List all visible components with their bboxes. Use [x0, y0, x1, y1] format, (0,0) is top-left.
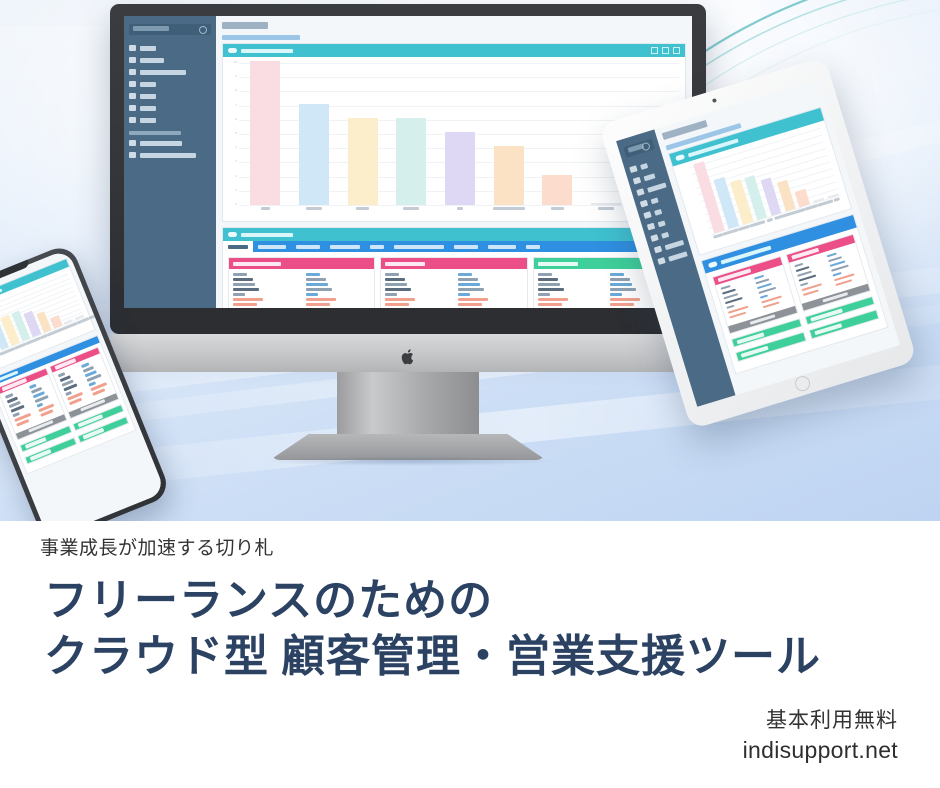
chart-bar [591, 203, 621, 205]
deal-card-field [233, 273, 247, 276]
list-panel [222, 227, 686, 308]
deal-card-field [306, 293, 318, 296]
cloud-icon [228, 232, 237, 237]
deal-card-field [458, 278, 478, 281]
y-axis-tick: 7 [225, 104, 237, 107]
pipeline-tabs[interactable] [223, 241, 685, 252]
lock-icon [654, 246, 662, 254]
deal-card-field [233, 283, 255, 286]
sidebar-item-label [140, 106, 156, 111]
x-axis-label [403, 207, 419, 210]
close-icon[interactable] [673, 47, 680, 54]
tagline-text: 基本利用無料 [766, 704, 898, 734]
chart-bar-cell [338, 63, 387, 205]
y-axis-tick: 6 [225, 118, 237, 121]
ticket-icon [129, 69, 136, 75]
chart-icon [650, 234, 658, 242]
deal-card-company-name [233, 262, 281, 266]
pipeline-tab-label [330, 245, 360, 249]
pipeline-tab[interactable] [253, 241, 291, 252]
search-placeholder [133, 26, 169, 31]
deal-card-field-values [29, 380, 59, 419]
chart-bar-cell [436, 63, 485, 205]
deal-card-field [827, 252, 837, 257]
pipeline-tab-label [296, 245, 320, 249]
chart-bar [250, 61, 280, 205]
y-axis-tick: 4 [225, 146, 237, 149]
y-axis-tick: 9 [225, 75, 237, 78]
sidebar-item-label [640, 162, 648, 169]
deal-card-field [610, 278, 630, 281]
x-axis-label-cell [832, 197, 845, 211]
ipad-camera-icon [712, 98, 717, 103]
x-axis-label [306, 207, 322, 210]
deal-card-field-values [754, 270, 790, 311]
sidebar-item-cart[interactable] [124, 78, 216, 90]
y-axis-tick: 2 [225, 175, 237, 178]
deal-card-field [306, 298, 336, 301]
x-axis-label [261, 207, 271, 210]
deal-card-field [538, 273, 552, 276]
deal-card-field [610, 303, 634, 306]
x-axis-label [457, 207, 463, 210]
x-axis-label [766, 218, 773, 223]
sidebar-item-label [643, 173, 655, 181]
deal-card-field [306, 283, 328, 286]
deal-card-field [538, 293, 550, 296]
deal-card[interactable] [380, 257, 527, 308]
building-icon [629, 165, 637, 173]
search-input[interactable] [129, 24, 211, 35]
deal-card-field [610, 288, 636, 291]
deal-card-field [538, 278, 558, 281]
sidebar-item-lock[interactable] [124, 137, 216, 149]
deal-card-field [233, 293, 245, 296]
building-icon [129, 45, 136, 51]
deal-card-field [233, 278, 253, 281]
list-panel-title [241, 233, 293, 237]
x-axis-label [356, 207, 369, 210]
person-icon [633, 177, 641, 185]
deal-card-field [385, 273, 399, 276]
deal-card-company-name [810, 308, 843, 322]
deal-card-field [794, 262, 804, 267]
sidebar-item-person[interactable] [124, 54, 216, 66]
deal-card-company-name [736, 332, 764, 344]
pipeline-tab[interactable] [291, 241, 325, 252]
deal-card-field-values [458, 273, 523, 308]
x-axis-label-cell [290, 207, 339, 219]
deal-card-field [306, 278, 326, 281]
plan-notice [222, 35, 300, 40]
x-axis-label [834, 197, 841, 202]
deal-card-company-name [82, 427, 104, 439]
sidebar-item-building[interactable] [124, 42, 216, 54]
pipeline-tab-label [258, 245, 286, 249]
deal-card-field [610, 298, 640, 301]
deal-card-grid [223, 252, 685, 308]
pipeline-tab-label [454, 245, 478, 249]
deal-card-field [385, 288, 411, 291]
pipeline-tab-label [526, 245, 540, 249]
person-icon [129, 57, 136, 63]
deal-card-field [385, 293, 397, 296]
pipeline-tab[interactable] [389, 241, 449, 252]
chart-icon [129, 117, 136, 123]
x-axis-label-cell [484, 207, 533, 219]
sidebar-item-briefcase[interactable] [124, 90, 216, 102]
copy-section: 事業成長が加速する切り札 フリーランスのための クラウド型 顧客管理・営業支援ツ… [0, 521, 940, 788]
deal-card-company-name [385, 262, 425, 266]
eyebrow-text: 事業成長が加速する切り札 [40, 533, 274, 560]
chart-bar [348, 118, 378, 205]
breadcrumb-label [222, 22, 268, 29]
sidebar-item-label [654, 208, 662, 215]
deal-card-field [458, 303, 482, 306]
deal-card-field [458, 273, 472, 276]
pipeline-tab-label [488, 245, 516, 249]
cart-icon [640, 200, 648, 208]
deal-card-header [381, 258, 526, 269]
hero-banner: 012345678910 [0, 0, 940, 788]
apple-logo-icon [401, 348, 416, 365]
deal-card-field-labels [57, 368, 87, 407]
briefcase-icon [643, 211, 651, 219]
chart-bar [299, 104, 329, 205]
deal-card-body [381, 269, 526, 308]
deal-card-field [306, 273, 320, 276]
chart-bar [542, 175, 572, 205]
hero-image-area: 012345678910 [0, 0, 940, 521]
deal-card-field-labels [538, 273, 603, 308]
pipeline-tab[interactable] [521, 241, 545, 252]
chart-x-axis-labels [241, 207, 679, 219]
chart-bar [445, 132, 475, 205]
pipeline-tab-label [394, 245, 444, 249]
y-axis-tick: 0 [225, 203, 237, 206]
dashboard-desktop: 012345678910 [124, 16, 692, 308]
deal-card-field [538, 298, 568, 301]
folder-icon [129, 105, 136, 111]
sidebar-item-label [140, 70, 186, 75]
y-axis-tick: 3 [225, 160, 237, 163]
sidebar-item-label [140, 141, 182, 146]
deal-card-field-labels [720, 280, 756, 321]
deal-card-field [610, 293, 622, 296]
deal-card-field [610, 273, 624, 276]
sidebar-item-chart[interactable] [124, 114, 216, 126]
deal-card-body [229, 269, 374, 308]
x-axis-label [598, 207, 614, 210]
deal-card-header [229, 258, 374, 269]
sidebar-item-card[interactable] [124, 149, 216, 161]
site-url-text: indisupport.net [743, 737, 898, 764]
deal-card-field-values [827, 247, 863, 288]
deal-card-company-name [538, 262, 578, 266]
pipeline-tab-label [228, 245, 248, 249]
briefcase-icon [129, 93, 136, 99]
pipeline-tab[interactable] [223, 241, 253, 252]
deal-card-field [799, 282, 808, 287]
deal-card-company-name [25, 437, 47, 449]
deal-card-field [610, 283, 632, 286]
sidebar-item-label [140, 153, 196, 158]
deal-card-field [538, 303, 562, 306]
deal-card-field [233, 288, 259, 291]
deal-card-field [720, 285, 730, 290]
ipad-home-button[interactable] [793, 374, 812, 393]
search-icon[interactable] [199, 26, 207, 34]
deal-card-field [385, 303, 409, 306]
y-axis-tick: 10 [225, 61, 237, 64]
deal-card-field [458, 283, 480, 286]
lock-icon [129, 140, 136, 146]
chart-bar-cell [241, 63, 290, 205]
y-axis-tick: 5 [225, 132, 237, 135]
sidebar-item-label [140, 46, 156, 51]
deal-card-field-labels [794, 257, 830, 298]
sidebar-item-label [140, 82, 156, 87]
imac-shadow [260, 456, 560, 466]
search-input[interactable] [623, 138, 655, 157]
x-axis-label [493, 207, 525, 210]
deal-card-field [726, 304, 735, 309]
cloud-icon [228, 48, 237, 53]
y-axis-tick: 8 [225, 89, 237, 92]
sidebar-item-label [140, 58, 164, 63]
sidebar-section-header [124, 126, 216, 137]
pipeline-tab[interactable] [483, 241, 521, 252]
deal-card-field [306, 303, 330, 306]
deal-card-field [754, 275, 764, 280]
x-axis-label [551, 207, 564, 210]
deal-card-field [458, 293, 470, 296]
chart-bar-cell [387, 63, 436, 205]
deal-card-field [306, 288, 332, 291]
deal-card-field [538, 283, 560, 286]
sidebar-item-folder[interactable] [124, 102, 216, 114]
breadcrumb [222, 21, 686, 30]
sidebar-item-label [140, 118, 156, 123]
pipeline-tab[interactable] [449, 241, 483, 252]
deal-card-company-name [814, 324, 842, 336]
deal-card-field [233, 298, 263, 301]
sidebar-item-label [140, 94, 156, 99]
deal-card-field [385, 298, 415, 301]
x-axis-label-cell [241, 207, 290, 219]
gridline [239, 205, 679, 206]
x-axis-label-cell [582, 207, 631, 219]
pipeline-tab-label [370, 245, 384, 249]
sidebar-section-label [129, 131, 181, 135]
y-axis-tick: 1 [225, 189, 237, 192]
pipeline-tab[interactable] [365, 241, 389, 252]
card-icon [129, 152, 136, 158]
deal-card-field [759, 294, 768, 299]
deal-card-column [380, 257, 527, 308]
chart-bar-cell [290, 63, 339, 205]
window-controls[interactable] [651, 47, 680, 54]
chart-bar [494, 146, 524, 205]
x-axis-label-cell [533, 207, 582, 219]
deal-card-field [458, 298, 488, 301]
imac-screen: 012345678910 [124, 16, 692, 308]
chart-panel-title [241, 49, 293, 53]
card-icon [657, 257, 665, 265]
chart-bar-cell [533, 63, 582, 205]
deal-card-column [228, 257, 375, 308]
list-panel-header [223, 228, 685, 241]
ticket-icon [636, 188, 644, 196]
pipeline-tab[interactable] [325, 241, 365, 252]
minimize-icon[interactable] [662, 47, 669, 54]
chart-panel-header [223, 44, 685, 57]
headline-text: フリーランスのための クラウド型 顧客管理・営業支援ツール [44, 573, 821, 685]
app-sidebar [124, 16, 216, 308]
x-axis-label-cell [338, 207, 387, 219]
sidebar-item-label [668, 251, 688, 261]
sidebar-item-label [657, 220, 665, 227]
x-axis-label-cell [387, 207, 436, 219]
deal-card-company-name [29, 449, 51, 461]
deal-card-field [385, 278, 405, 281]
folder-icon [647, 223, 655, 231]
deal-card-field-labels [233, 273, 298, 308]
deal-card-field-values [306, 273, 371, 308]
sidebar-item-label [661, 231, 669, 238]
deal-card-field-values [81, 359, 111, 398]
sidebar-item-ticket[interactable] [124, 66, 216, 78]
sidebar-item-label [650, 197, 658, 204]
deal-card-company-name [741, 346, 769, 358]
chart-bar-cell [484, 63, 533, 205]
deal-card-field [833, 272, 842, 277]
deal-card-field [385, 283, 407, 286]
deal-card-field-labels [5, 389, 35, 428]
deal-card[interactable] [228, 257, 375, 308]
deal-card-field [458, 288, 484, 291]
deal-card-field [538, 288, 564, 291]
chart-bar [396, 118, 426, 205]
x-axis-label-cell [436, 207, 485, 219]
deal-card-field [233, 303, 257, 306]
cart-icon [129, 81, 136, 87]
expand-icon[interactable] [651, 47, 658, 54]
deal-card-field-labels [385, 273, 450, 308]
